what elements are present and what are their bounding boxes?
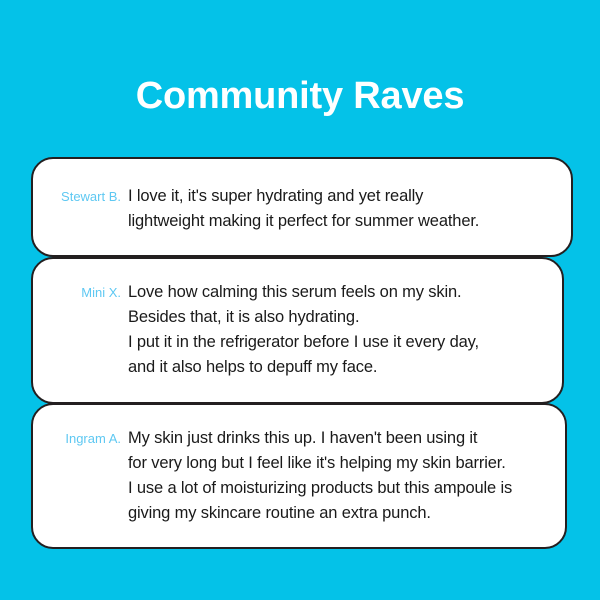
testimonial-card: Ingram A. My skin just drinks this up. I… (31, 403, 567, 549)
testimonial-author: Stewart B. (33, 184, 121, 209)
testimonial-card-stack: Stewart B. I love it, it's super hydrati… (0, 0, 600, 600)
testimonial-body: My skin just drinks this up. I haven't b… (128, 426, 512, 526)
testimonial-body: I love it, it's super hydrating and yet … (128, 184, 479, 234)
testimonial-row: Mini X. Love how calming this serum feel… (33, 280, 479, 380)
testimonial-body: Love how calming this serum feels on my … (128, 280, 479, 380)
testimonial-author: Ingram A. (33, 426, 121, 451)
testimonial-author: Mini X. (33, 280, 121, 305)
testimonial-row: Ingram A. My skin just drinks this up. I… (33, 426, 512, 526)
testimonial-card: Mini X. Love how calming this serum feel… (31, 257, 564, 404)
testimonial-card: Stewart B. I love it, it's super hydrati… (31, 157, 573, 257)
testimonial-row: Stewart B. I love it, it's super hydrati… (33, 184, 479, 234)
